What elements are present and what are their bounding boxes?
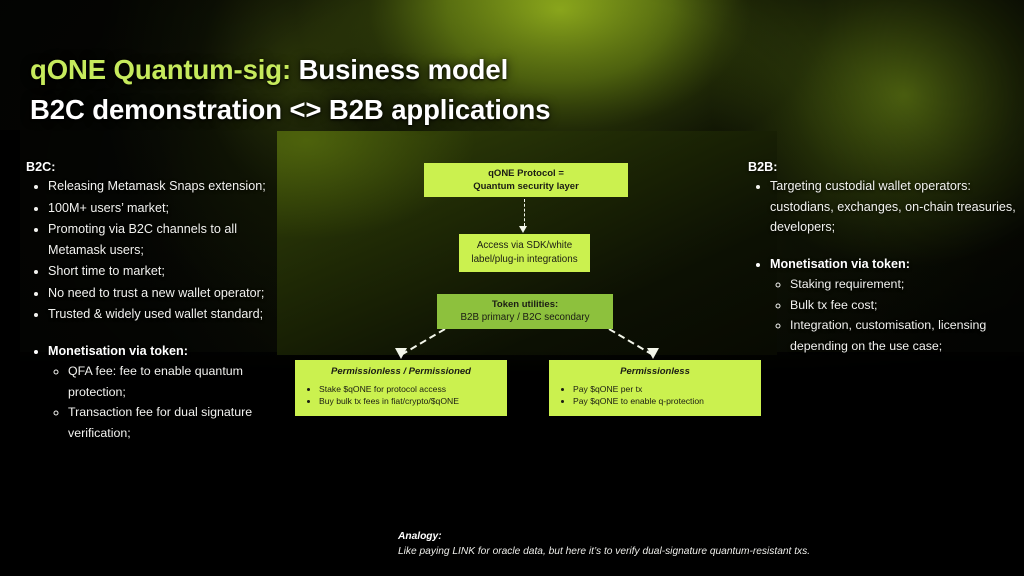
left-leaf-list: Stake $qONE for protocol access Buy bulk… [303,383,499,407]
b2c-column: B2C: Releasing Metamask Snaps extension;… [26,160,294,444]
protocol-line-1: qONE Protocol = [488,167,564,180]
list-item: 100M+ users’ market; [48,198,294,219]
list-item: Short time to market; [48,261,294,282]
title-line-1: qONE Quantum-sig: Business model [30,50,550,90]
list-item: Transaction fee for dual signature verif… [68,402,294,443]
diagram-node-protocol: qONE Protocol = Quantum security layer [424,163,628,197]
slide-title: qONE Quantum-sig: Business model B2C dem… [30,50,550,130]
protocol-line-2: Quantum security layer [473,180,579,193]
list-item: Integration, customisation, licensing de… [790,315,1016,356]
right-leaf-list: Pay $qONE per tx Pay $qONE to enable q-p… [557,383,753,407]
list-item: Buy bulk tx fees in fiat/crypto/$qONE [319,395,499,407]
analogy-heading: Analogy: [398,529,810,544]
access-line-1: Access via SDK/white [477,239,572,253]
b2b-sublist: Staking requirement; Bulk tx fee cost; I… [770,274,1016,356]
analogy-block: Analogy: Like paying LINK for oracle dat… [398,529,810,559]
slide-canvas: qONE Quantum-sig: Business model B2C dem… [0,0,1024,576]
access-line-2: label/plug-in integrations [471,253,577,267]
list-item-label: Monetisation via token: [770,257,910,271]
list-item: QFA fee: fee to enable quantum protectio… [68,361,294,402]
title-accent-text: qONE Quantum-sig: [30,54,291,85]
list-item-monetisation: Monetisation via token: QFA fee: fee to … [48,341,294,444]
list-item: Trusted & widely used wallet standard; [48,304,294,325]
diagram-node-right-leaf: Permissionless Pay $qONE per tx Pay $qON… [549,360,761,416]
connector-token-branches [277,325,777,365]
list-item: Bulk tx fee cost; [790,295,1016,316]
list-item-label: Monetisation via token: [48,344,188,358]
list-spacer [770,239,1016,253]
b2c-sublist: QFA fee: fee to enable quantum protectio… [48,361,294,443]
left-leaf-heading: Permissionless / Permissioned [303,366,499,378]
right-leaf-heading: Permissionless [557,366,753,378]
list-item: Stake $qONE for protocol access [319,383,499,395]
list-item: Targeting custodial wallet operators: cu… [770,176,1016,238]
b2b-heading: B2B: [748,160,1016,174]
list-spacer [48,326,294,340]
title-line-2: B2C demonstration <> B2B applications [30,90,550,130]
list-item: No need to trust a new wallet operator; [48,283,294,304]
left-black-edge [0,130,20,576]
list-item: Releasing Metamask Snaps extension; [48,176,294,197]
connector-protocol-to-access [524,199,525,226]
title-rest-text: Business model [291,54,508,85]
list-item: Staking requirement; [790,274,1016,295]
arrowhead-protocol-to-access [519,226,527,233]
b2c-heading: B2C: [26,160,294,174]
list-item: Pay $qONE per tx [573,383,753,395]
b2b-column: B2B: Targeting custodial wallet operator… [748,160,1016,357]
token-line-1: Token utilities: [492,298,558,311]
b2b-list: Targeting custodial wallet operators: cu… [748,176,1016,356]
list-item-monetisation: Monetisation via token: Staking requirem… [770,254,1016,357]
diagram-node-access: Access via SDK/white label/plug-in integ… [459,234,590,272]
b2c-list: Releasing Metamask Snaps extension; 100M… [26,176,294,443]
diagram-node-left-leaf: Permissionless / Permissioned Stake $qON… [295,360,507,416]
analogy-body: Like paying LINK for oracle data, but he… [398,544,810,559]
token-line-2: B2B primary / B2C secondary [460,311,589,325]
diagram-node-token-utilities: Token utilities: B2B primary / B2C secon… [437,294,613,329]
list-item: Pay $qONE to enable q-protection [573,395,753,407]
list-item: Promoting via B2C channels to all Metama… [48,219,294,260]
